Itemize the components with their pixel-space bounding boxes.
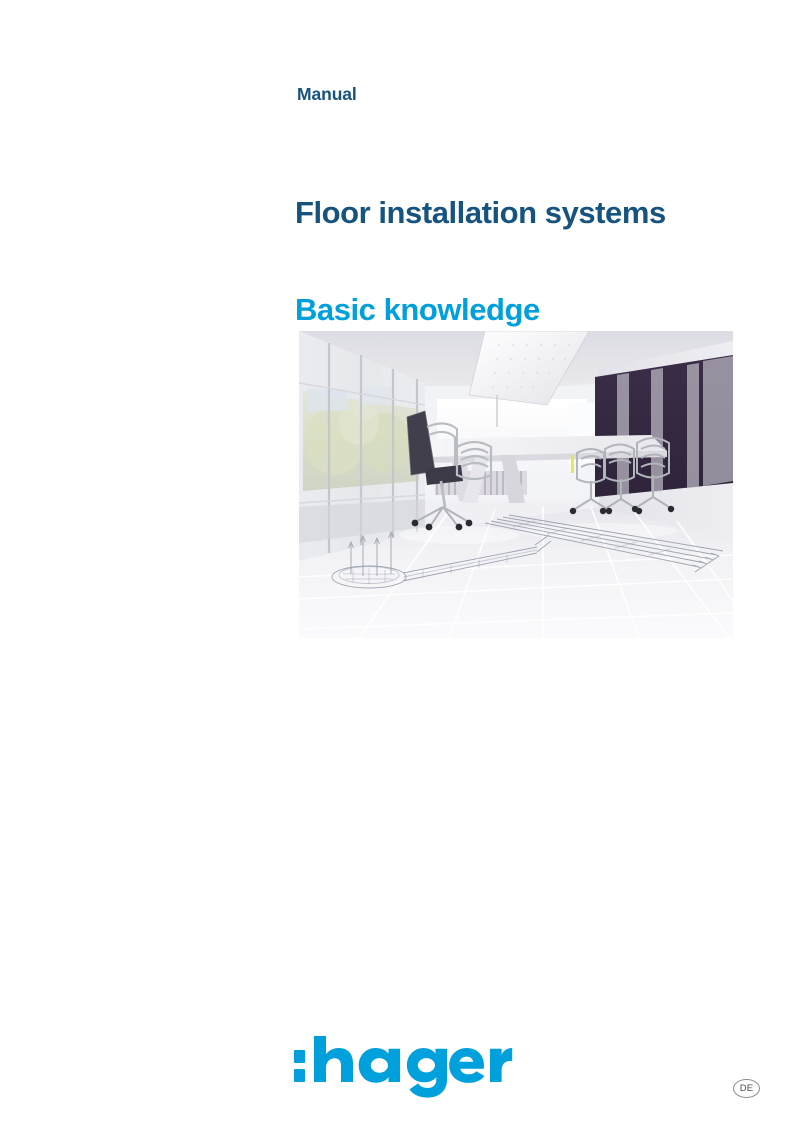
page-title: Floor installation systems <box>295 195 666 231</box>
cover-hero-image <box>299 331 733 638</box>
page-subtitle: Basic knowledge <box>295 292 540 328</box>
language-badge: DE <box>733 1079 760 1098</box>
document-cover-page: Manual Floor installation systems Basic … <box>0 0 802 1134</box>
language-code: DE <box>733 1079 760 1098</box>
hager-logo-mark <box>292 1036 454 1098</box>
document-type-label: Manual <box>297 84 357 105</box>
office-interior-illustration <box>299 331 733 638</box>
hager-logo-mark-2 <box>448 1036 516 1098</box>
hager-logo <box>292 1036 516 1098</box>
